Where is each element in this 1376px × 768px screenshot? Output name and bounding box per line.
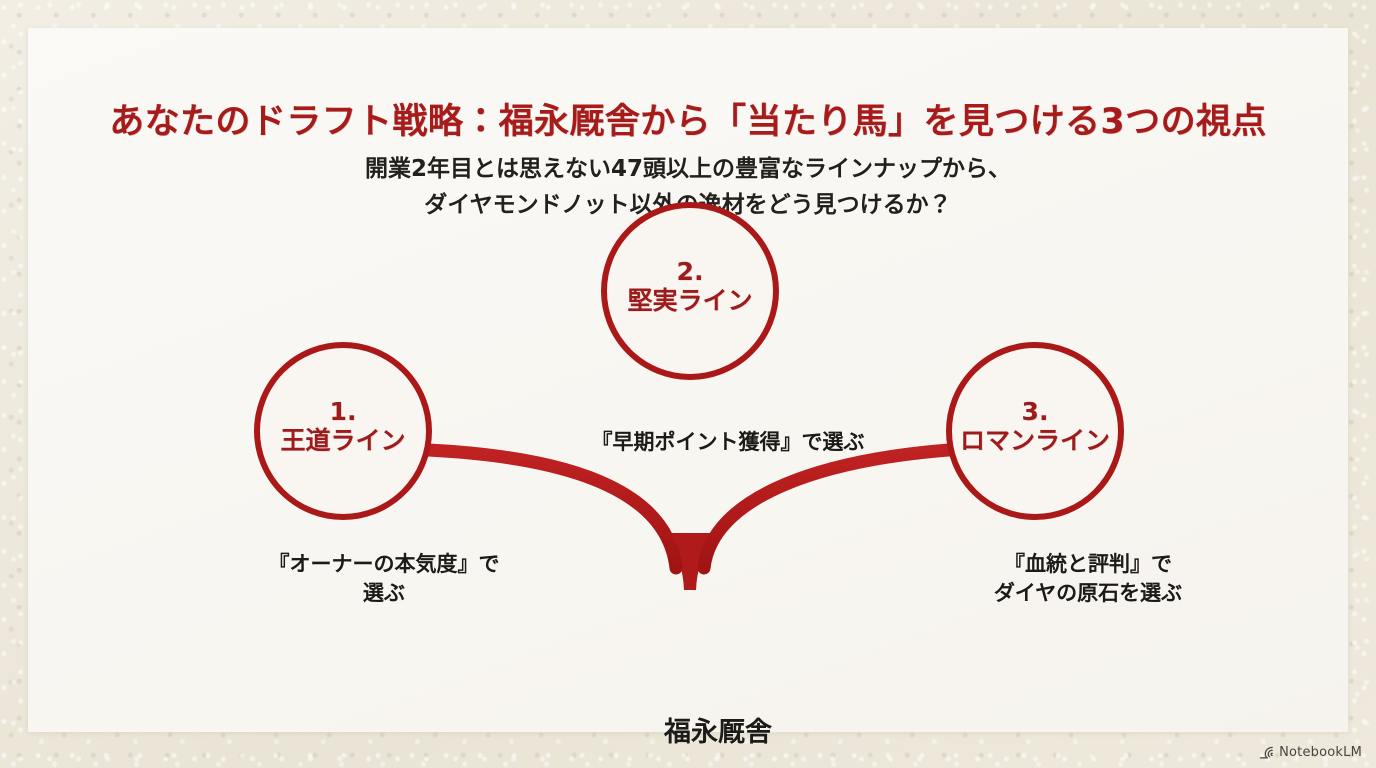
branch-3-caption-line-1: 『血統と評判』で xyxy=(888,550,1288,579)
branch-caption-2: 『早期ポイント獲得』で選ぶ xyxy=(458,428,998,457)
branch-1-caption-line-1: 『オーナーの本気度』で xyxy=(178,550,590,579)
branch-caption-1: 『オーナーの本気度』で 選ぶ xyxy=(178,550,590,608)
branch-2-caption-line-1: 『早期ポイント獲得』で選ぶ xyxy=(458,428,998,457)
watermark-label: NotebookLM xyxy=(1279,745,1362,760)
node-circle-2[interactable] xyxy=(604,205,776,377)
slide-canvas: あなたのドラフト戦略：福永厩舎から「当たり馬」を見つける3つの視点 開業2年目と… xyxy=(0,0,1376,768)
notebooklm-watermark: NotebookLM xyxy=(1259,745,1362,760)
tree-diagram xyxy=(28,28,1348,732)
slide-card: あなたのドラフト戦略：福永厩舎から「当たり馬」を見つける3つの視点 開業2年目と… xyxy=(28,28,1348,732)
notebooklm-icon xyxy=(1259,746,1274,759)
branch-3-caption-line-2: ダイヤの原石を選ぶ xyxy=(888,579,1288,608)
branch-caption-3: 『血統と評判』で ダイヤの原石を選ぶ xyxy=(888,550,1288,608)
branch-1-caption-line-2: 選ぶ xyxy=(178,579,590,608)
node-circle-1[interactable] xyxy=(257,345,429,517)
tree-root-label: 福永厩舎 xyxy=(508,710,928,749)
